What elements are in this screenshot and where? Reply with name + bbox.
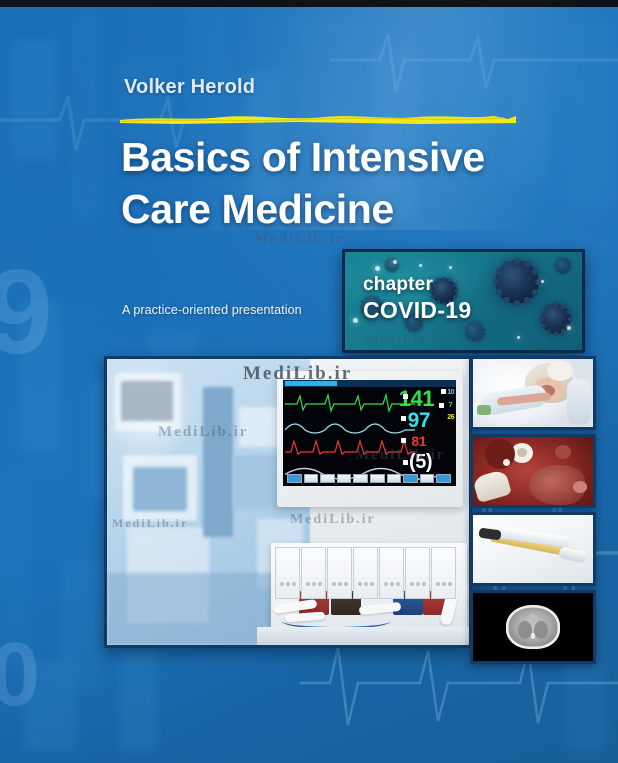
pump-module (353, 547, 378, 599)
infusion-pump-rack (271, 543, 467, 629)
vital-blood-pressure: 81 (411, 434, 426, 448)
spo2-trace-cyan (285, 414, 415, 438)
thumbnail-strip (470, 356, 590, 668)
softkey-5[interactable] (353, 474, 368, 483)
pump-module (379, 547, 404, 599)
monitor-marker-6 (439, 403, 444, 408)
background-numeral-2: 0 (0, 630, 40, 720)
covid-badge-line-2: COVID-19 (363, 297, 471, 324)
author-name: Volker Herold (124, 76, 255, 99)
softkey-9[interactable] (420, 474, 435, 483)
book-title: Basics of Intensive Care Medicine (121, 131, 591, 236)
monitor-marker-3 (401, 438, 406, 443)
pump-module (301, 547, 326, 599)
covid-badge-line-1: chapter (363, 274, 471, 296)
softkey-6[interactable] (370, 474, 385, 483)
softkey-8[interactable] (403, 474, 418, 483)
pump-module (327, 547, 352, 599)
softkey-10[interactable] (436, 474, 451, 483)
book-cover: 9 0 Volker Herold Basics of Intensive Ca… (0, 0, 618, 763)
monitor-side-value-3: 26 (447, 414, 454, 421)
vital-spo2: 97 (408, 410, 430, 431)
watermark: MediLib.ir (254, 231, 344, 248)
softkey-2[interactable] (304, 474, 319, 483)
pump-module (431, 547, 456, 599)
watermark: MediLib.ir (290, 512, 376, 528)
yellow-highlight-underline (118, 112, 518, 125)
monitor-marker-1 (403, 394, 408, 399)
title-line-2: Care Medicine (121, 183, 591, 235)
thumbnail-airway-intubation (470, 356, 596, 430)
monitor-screen: 141 97 81 (5) 10 7 26 (283, 380, 456, 486)
monitor-side-value-2: 7 (449, 402, 452, 409)
monitor-marker-5 (441, 389, 446, 394)
patient-monitor: 141 97 81 (5) 10 7 26 (277, 371, 463, 507)
monitor-side-value-1: 10 (447, 389, 454, 396)
thumbnail-catheter-instruments (470, 512, 596, 586)
title-line-1: Basics of Intensive (121, 131, 591, 183)
monitor-marker-2 (401, 416, 406, 421)
thumbnail-brain-ct-scan (470, 590, 596, 664)
top-black-bar (0, 0, 618, 7)
softkey-1[interactable] (287, 474, 302, 483)
icu-photo: 141 97 81 (5) 10 7 26 (104, 356, 472, 648)
vital-heart-rate: 141 (399, 388, 434, 410)
background-numeral: 9 (0, 252, 53, 372)
watermark: MediLib.ir (355, 447, 445, 464)
ct-head-outline (506, 605, 560, 649)
watermark: MediLib.ir (243, 363, 352, 385)
watermark: MediLib.ir (158, 424, 248, 441)
softkey-7[interactable] (387, 474, 402, 483)
softkey-3[interactable] (320, 474, 335, 483)
watermark: MediLib.ir (112, 516, 188, 531)
softkey-4[interactable] (337, 474, 352, 483)
photo-desk-surface (257, 627, 469, 645)
covid-badge-text: chapter COVID-19 (363, 274, 471, 324)
pump-module (405, 547, 430, 599)
cover-subtitle: A practice-oriented presentation (122, 303, 302, 317)
thumbnail-endoscopy-view (470, 434, 596, 508)
monitor-softkeys[interactable] (287, 474, 451, 483)
watermark: MediLib.ir (366, 332, 447, 348)
pump-module (275, 547, 300, 599)
ecg-trace-green (285, 390, 415, 414)
